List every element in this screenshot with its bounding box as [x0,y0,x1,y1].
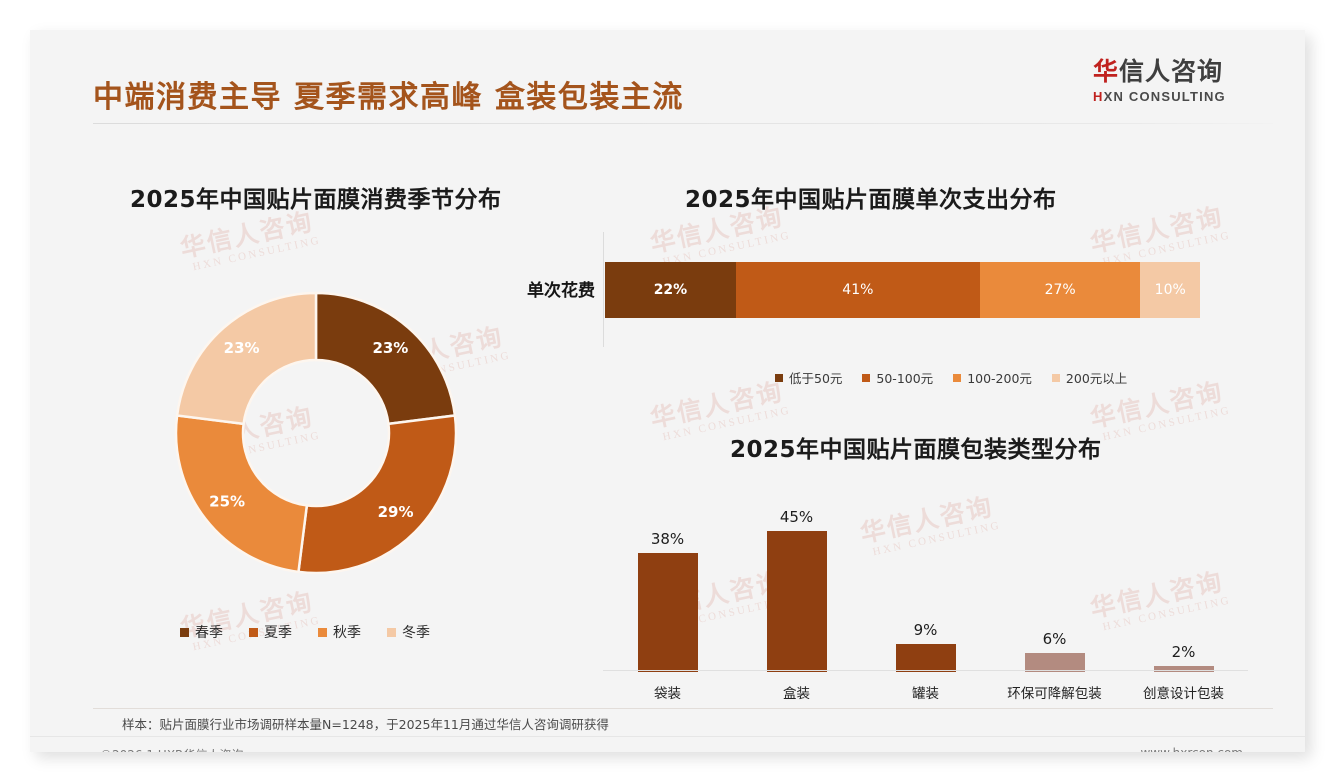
stacked-segment-低于50元[interactable]: 22% [605,262,736,318]
logo-english-text: HXN CONSULTING [1093,89,1273,104]
bar-value-label: 45% [780,508,813,526]
bar-value-label: 38% [651,530,684,548]
logo-chinese-text: 华信人咨询 [1093,58,1273,86]
stacked-bar-title: 2025年中国贴片面膜单次支出分布 [685,180,1057,214]
legend-label: 200元以上 [1066,368,1127,387]
bar-category-label: 袋装 [603,682,732,702]
legend-label: 秋季 [333,622,361,642]
legend-swatch-icon [953,374,961,382]
logo-cn-rest: 信人咨询 [1119,57,1223,86]
packaging-bar-title: 2025年中国贴片面膜包装类型分布 [730,430,1102,464]
legend-item-春季[interactable]: 春季 [180,622,223,642]
legend-item-夏季[interactable]: 夏季 [249,622,292,642]
stacked-segment-50-100元[interactable]: 41% [736,262,980,318]
stacked-segment-label: 27% [1045,282,1076,298]
logo-en-red: H [1093,89,1104,104]
stacked-segment-100-200元[interactable]: 27% [980,262,1141,318]
stacked-bar-axis [603,232,604,347]
slide-canvas: 华信人咨询HXN CONSULTING华信人咨询HXN CONSULTING华信… [30,30,1305,752]
donut-slice-label: 29% [378,503,414,521]
slide-header: 中端消费主导 夏季需求高峰 盒装包装主流 华信人咨询 HXN CONSULTIN… [30,30,1305,125]
bar-column-盒装[interactable]: 45% [767,502,827,672]
donut-legend: 春季夏季秋季冬季 [180,622,430,642]
bar-rect[interactable] [767,531,827,672]
bar-rect[interactable] [896,644,956,672]
bar-column-袋装[interactable]: 38% [638,502,698,672]
packaging-bar-baseline [603,670,1248,671]
donut-svg: 23%29%25%23% [168,285,464,581]
bar-column-环保可降解包装[interactable]: 6% [1025,502,1085,672]
stacked-bar-legend: 低于50元50-100元100-200元200元以上 [775,368,1127,387]
legend-item-冬季[interactable]: 冬季 [387,622,430,642]
donut-chart-title: 2025年中国贴片面膜消费季节分布 [130,180,502,214]
legend-swatch-icon [318,628,327,637]
legend-label: 春季 [195,622,223,642]
bar-category-label: 盒装 [732,682,861,702]
bar-value-label: 6% [1043,630,1067,648]
donut-slice-label: 23% [224,339,260,357]
stacked-bar-row-label: 单次花费 [500,276,595,301]
sample-note: 样本：贴片面膜行业市场调研样本量N=1248，于2025年11月通过华信人咨询调… [122,714,609,733]
donut-slice-夏季[interactable] [298,415,456,573]
bar-rect[interactable] [638,553,698,672]
page-title: 中端消费主导 夏季需求高峰 盒装包装主流 [93,72,684,116]
legend-swatch-icon [862,374,870,382]
stacked-segment-200元以上[interactable]: 10% [1140,262,1200,318]
season-donut-chart: 23%29%25%23% [168,285,464,581]
spend-legend-item-100-200元[interactable]: 100-200元 [953,368,1032,387]
spend-legend-item-50-100元[interactable]: 50-100元 [862,368,933,387]
legend-swatch-icon [180,628,189,637]
packaging-bar-plot: 38%45%9%6%2% [603,500,1248,672]
bar-column-罐装[interactable]: 9% [896,502,956,672]
company-logo: 华信人咨询 HXN CONSULTING [1093,58,1273,104]
spend-legend-item-低于50元[interactable]: 低于50元 [775,368,842,387]
bar-category-label: 环保可降解包装 [990,682,1119,702]
website-link[interactable]: www.hxrcon.com [1140,746,1243,752]
bar-category-label: 罐装 [861,682,990,702]
legend-label: 低于50元 [789,368,842,387]
bar-rect[interactable] [1154,666,1214,672]
bar-value-label: 2% [1172,643,1196,661]
legend-swatch-icon [387,628,396,637]
legend-label: 100-200元 [967,368,1032,387]
stacked-bar-track: 22%41%27%10% [605,262,1200,318]
legend-swatch-icon [249,628,258,637]
stacked-segment-label: 22% [654,282,688,298]
bar-category-label: 创意设计包装 [1119,682,1248,702]
stacked-segment-label: 10% [1155,282,1186,298]
logo-cn-red: 华 [1093,57,1119,86]
legend-item-秋季[interactable]: 秋季 [318,622,361,642]
legend-swatch-icon [775,374,783,382]
copyright-text: ©2026.1 HXR华信人咨询 [100,746,243,752]
donut-slice-label: 23% [372,339,408,357]
watermark-text: 华信人咨询HXN CONSULTING [177,581,322,655]
legend-label: 冬季 [402,622,430,642]
legend-label: 夏季 [264,622,292,642]
donut-slice-春季[interactable] [316,293,455,424]
legend-label: 50-100元 [876,368,933,387]
donut-slice-label: 25% [209,492,245,510]
stacked-segment-label: 41% [842,282,873,298]
bar-column-创意设计包装[interactable]: 2% [1154,502,1214,672]
header-divider [93,123,1273,124]
spend-legend-item-200元以上[interactable]: 200元以上 [1052,368,1127,387]
bar-value-label: 9% [914,621,938,639]
logo-en-rest: XN CONSULTING [1104,89,1226,104]
legend-swatch-icon [1052,374,1060,382]
donut-slice-冬季[interactable] [177,293,316,424]
footer-divider [93,708,1273,709]
watermark-text: 华信人咨询HXN CONSULTING [1087,196,1232,270]
bottom-divider [30,736,1305,737]
